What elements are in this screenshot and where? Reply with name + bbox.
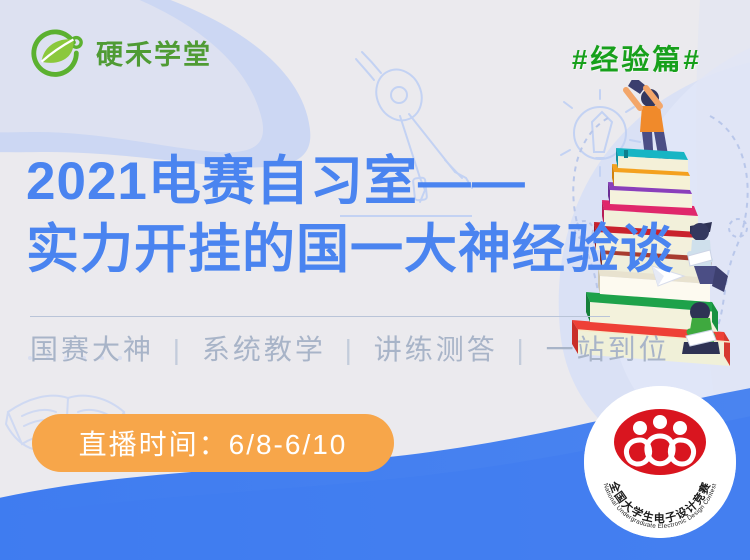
subtitle-item-2: 讲练测答 bbox=[374, 334, 498, 365]
subtitle-separator-1: | bbox=[345, 334, 355, 365]
subtitle-item-1: 系统教学 bbox=[202, 334, 326, 365]
promo-banner: 硬禾学堂 #经验篇# bbox=[0, 0, 750, 560]
brand: 硬禾学堂 bbox=[28, 26, 212, 84]
subtitle-separator-0: | bbox=[173, 334, 183, 365]
live-time-button[interactable]: 直播时间：6/8-6/10 bbox=[32, 414, 394, 472]
subtitle-separator-2: | bbox=[517, 334, 527, 365]
contest-badge: 全国大学生电子设计竞赛 National Undergraduate Elect… bbox=[584, 386, 736, 538]
headline-line-1: 2021电赛自习室—— bbox=[26, 148, 674, 216]
brand-name: 硬禾学堂 bbox=[96, 42, 212, 69]
subtitle-features: 国赛大神 | 系统教学 | 讲练测答 | 一站到位 bbox=[30, 328, 670, 368]
headline-line-2: 实力开挂的国一大神经验谈 bbox=[26, 216, 674, 284]
electronic-design-contest-emblem-icon: 全国大学生电子设计竞赛 National Undergraduate Elect… bbox=[584, 386, 736, 538]
tagline-badge: #经验篇# bbox=[572, 38, 702, 78]
leaf-circle-logo-icon bbox=[28, 26, 86, 84]
subtitle-item-3: 一站到位 bbox=[546, 334, 670, 365]
headline-divider bbox=[30, 316, 610, 317]
headline: 2021电赛自习室—— 实力开挂的国一大神经验谈 bbox=[26, 148, 674, 284]
subtitle-item-0: 国赛大神 bbox=[30, 334, 154, 365]
